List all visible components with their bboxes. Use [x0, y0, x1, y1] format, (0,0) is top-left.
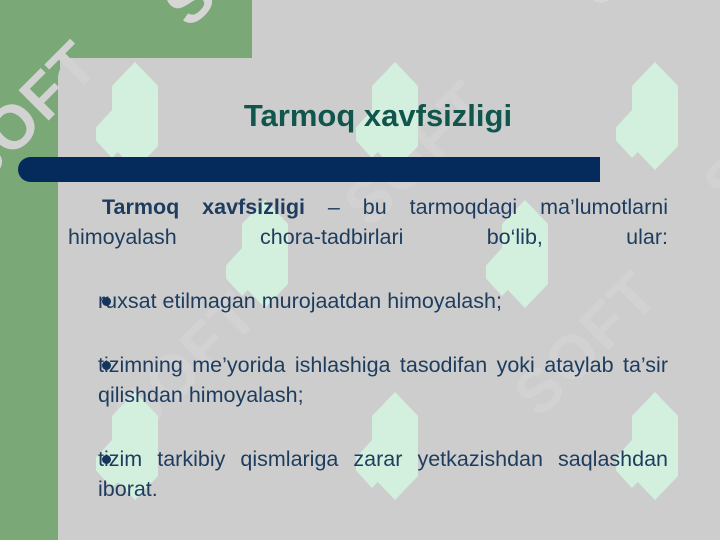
bullet-dot-icon: [102, 361, 111, 370]
slide-title: Tarmoq xavfsizligi: [58, 98, 698, 134]
bullet-dot-icon: [102, 455, 111, 464]
slide-canvas: SOFT SOFT SOFT SOFT SOFT SOFT SOFT: [0, 0, 720, 540]
slide-body: Tarmoq xavfsizligi – bu tarmoqdagi ma’lu…: [68, 192, 668, 534]
intro-bold-lead: Tarmoq xavfsizligi: [102, 195, 305, 219]
intro-paragraph: Tarmoq xavfsizligi – bu tarmoqdagi ma’lu…: [68, 192, 668, 282]
title-underline-bar: [18, 157, 600, 182]
list-item-label: tizim tarkibiy qismlariga zarar yetkazis…: [98, 444, 668, 504]
bullet-dot-icon: [102, 297, 111, 306]
list-item: tizim tarkibiy qismlariga zarar yetkazis…: [68, 444, 668, 534]
top-left-green-block: [0, 0, 252, 58]
left-green-rail: [0, 0, 60, 540]
list-item-label: tizimning me’yorida ishlashiga tasodifan…: [98, 350, 668, 410]
list-item-label: ruxsat etilmagan murojaatdan himoyalash;: [98, 286, 668, 316]
list-item: tizimning me’yorida ishlashiga tasodifan…: [68, 350, 668, 440]
list-item: ruxsat etilmagan murojaatdan himoyalash;: [68, 286, 668, 346]
